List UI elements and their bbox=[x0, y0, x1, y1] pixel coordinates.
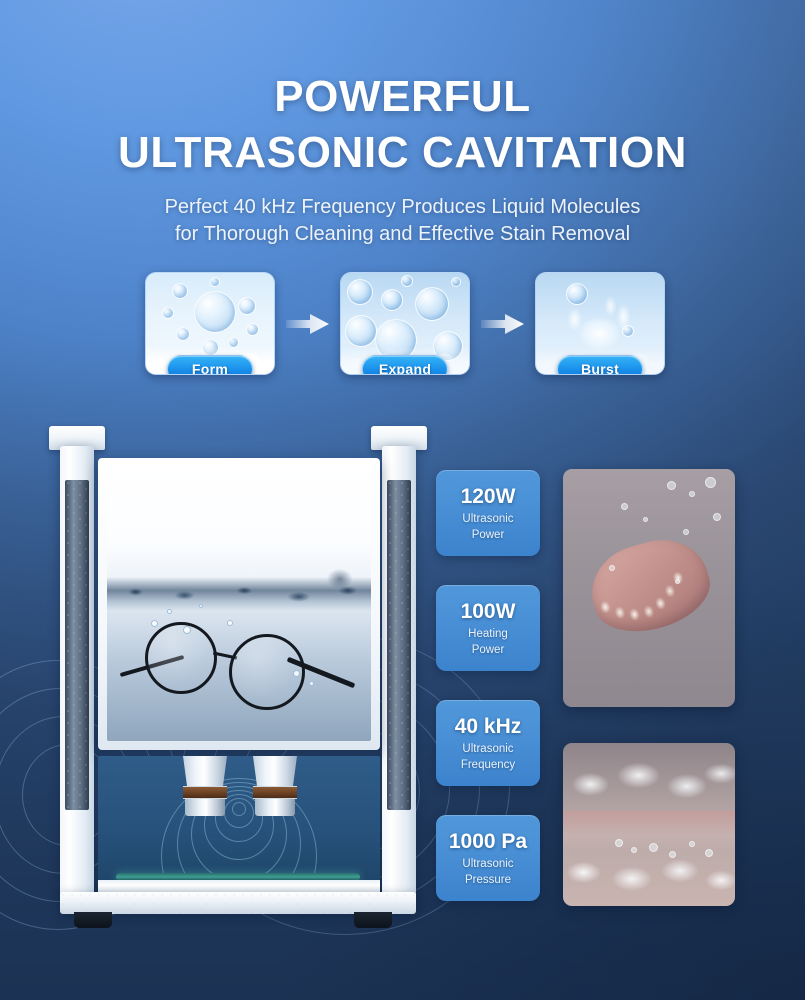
spec-badge-ultrasonic-pressure: 1000 Pa Ultrasonic Pressure bbox=[436, 815, 540, 901]
arrow-right-icon bbox=[286, 313, 330, 335]
foot-left bbox=[74, 912, 112, 928]
subtitle-line-1: Perfect 40 kHz Frequency Produces Liquid… bbox=[0, 194, 805, 221]
ultrasonic-transducer-icon bbox=[176, 756, 234, 816]
spec-label-line-2: Power bbox=[472, 528, 505, 542]
base-plate bbox=[60, 892, 416, 914]
step-arrow-2 bbox=[470, 272, 535, 375]
eyeglasses-in-water-icon bbox=[143, 620, 343, 712]
foam-icon bbox=[563, 826, 735, 906]
spec-badge-ultrasonic-power: 120W Ultrasonic Power bbox=[436, 470, 540, 556]
step-arrow-1 bbox=[275, 272, 340, 375]
mesh-texture-right bbox=[387, 480, 411, 810]
foot-right bbox=[354, 912, 392, 928]
headline-line-2: ULTRASONIC CAVITATION bbox=[0, 128, 805, 178]
arrow-right-icon bbox=[481, 313, 525, 335]
spec-badge-list: 120W Ultrasonic Power 100W Heating Power… bbox=[436, 470, 540, 930]
step-label-burst: Burst bbox=[557, 355, 643, 375]
water-body bbox=[107, 467, 371, 741]
denture-object-icon bbox=[591, 543, 709, 629]
spec-label-line-2: Frequency bbox=[461, 758, 515, 772]
spec-label-line-1: Ultrasonic bbox=[462, 512, 513, 526]
spec-label-line-2: Pressure bbox=[465, 873, 511, 887]
spec-value: 120W bbox=[461, 484, 516, 510]
spec-label-line-1: Ultrasonic bbox=[462, 857, 513, 871]
cavitation-step-expand: Expand bbox=[340, 272, 470, 375]
photo-dentures-after-closeup bbox=[563, 743, 735, 906]
step-label-form: Form bbox=[167, 355, 253, 375]
spec-label-line-1: Ultrasonic bbox=[462, 742, 513, 756]
product-marketing-poster: POWERFUL ULTRASONIC CAVITATION Perfect 4… bbox=[0, 0, 805, 1000]
page-title: POWERFUL ULTRASONIC CAVITATION bbox=[0, 72, 805, 178]
spec-value: 1000 Pa bbox=[449, 829, 527, 855]
page-subtitle: Perfect 40 kHz Frequency Produces Liquid… bbox=[0, 194, 805, 248]
spec-value: 100W bbox=[461, 599, 516, 625]
photo-dentures-before bbox=[563, 469, 735, 707]
result-photo-pair bbox=[563, 469, 735, 906]
headline-line-1: POWERFUL bbox=[0, 72, 805, 122]
cavitation-step-form: Form bbox=[145, 272, 275, 375]
splash-icon bbox=[309, 560, 365, 602]
step-label-expand: Expand bbox=[362, 355, 448, 375]
ultrasonic-cleaner-cutaway bbox=[52, 418, 424, 923]
spec-value: 40 kHz bbox=[455, 714, 522, 740]
subtitle-line-2: for Thorough Cleaning and Effective Stai… bbox=[0, 221, 805, 248]
ultrasonic-transducer-icon bbox=[246, 756, 304, 816]
transducer-chamber bbox=[98, 756, 380, 888]
cavitation-step-burst: Burst bbox=[535, 272, 665, 375]
spec-label-line-1: Heating bbox=[468, 627, 508, 641]
mesh-texture-left bbox=[65, 480, 89, 810]
spec-badge-ultrasonic-frequency: 40 kHz Ultrasonic Frequency bbox=[436, 700, 540, 786]
spec-label-line-2: Power bbox=[472, 643, 505, 657]
cavitation-step-diagram: Form bbox=[145, 272, 665, 380]
tank-window bbox=[98, 458, 380, 750]
spec-badge-heating-power: 100W Heating Power bbox=[436, 585, 540, 671]
